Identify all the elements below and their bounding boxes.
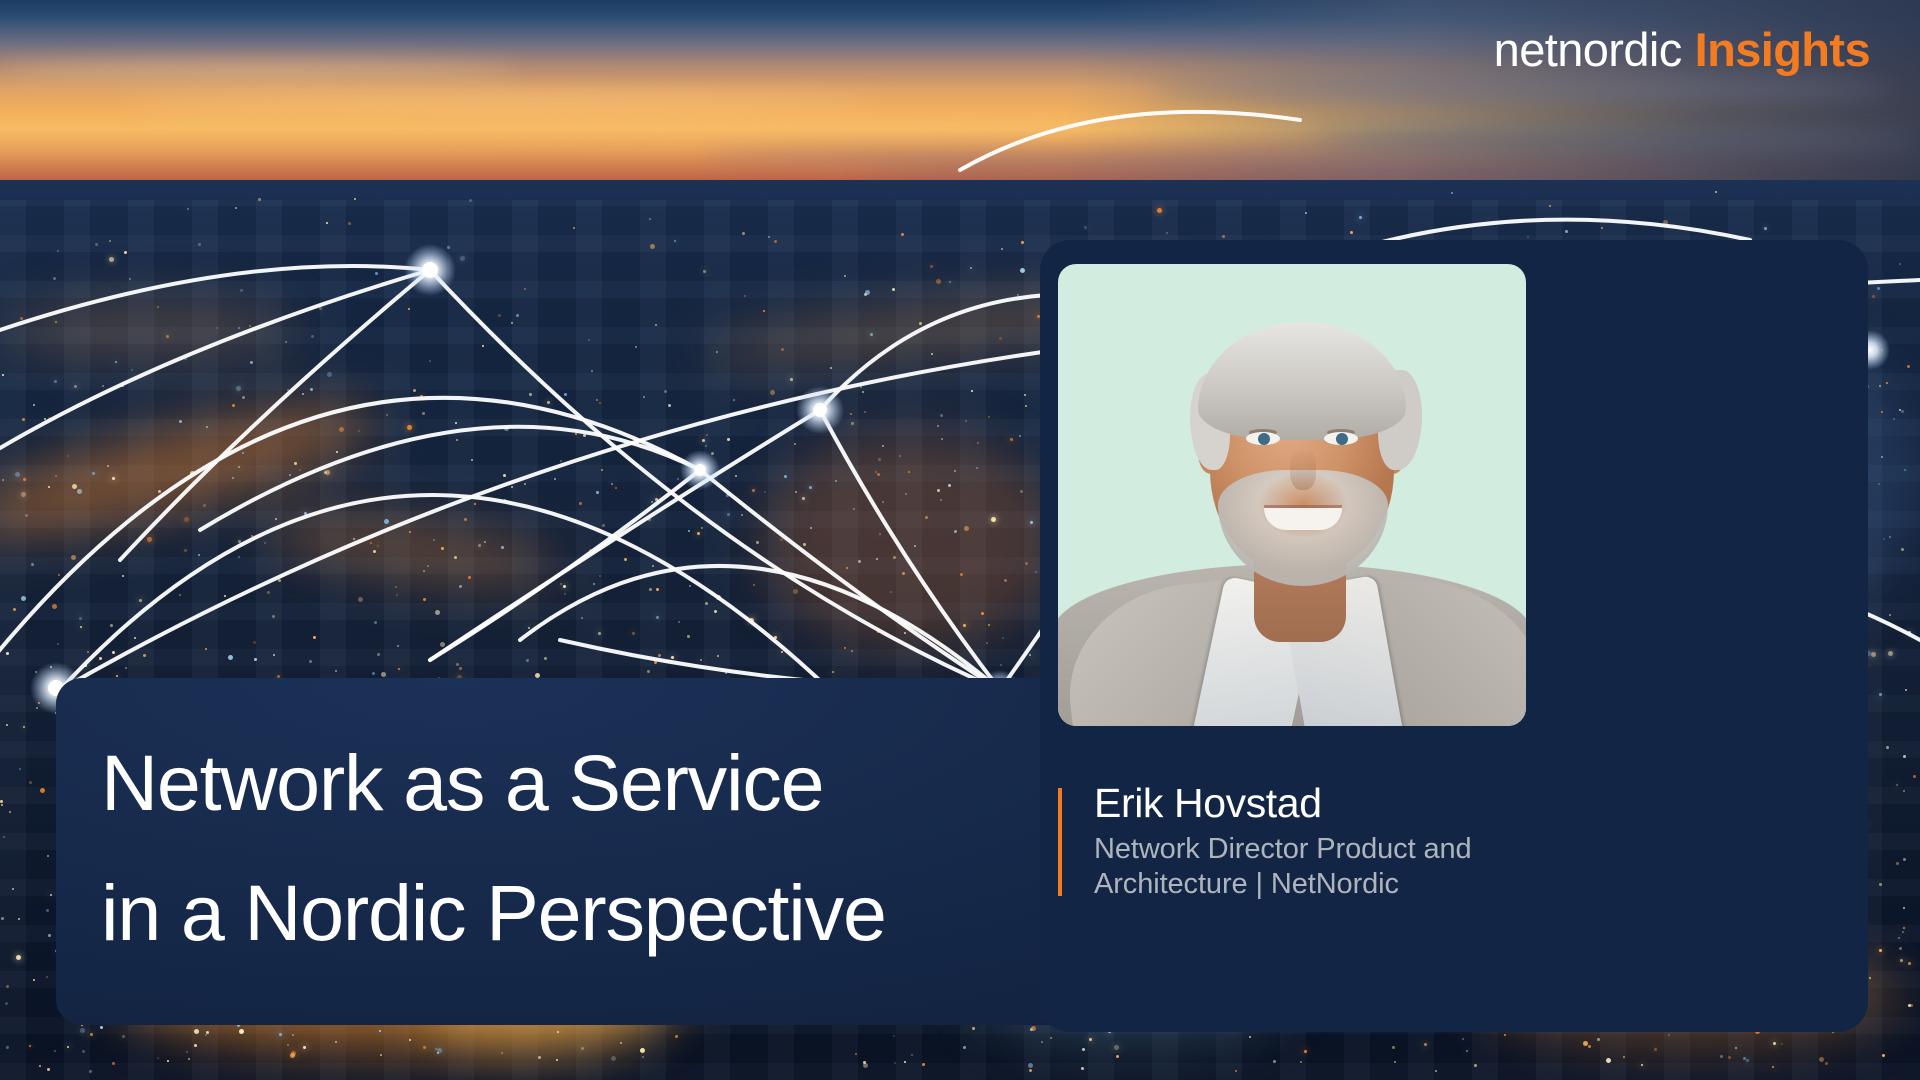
photo-pupil-left [1258,433,1270,445]
title-line-2: in a Nordic Perspective [101,848,1101,978]
speaker-role: Network Director Product and Architectur… [1094,832,1472,903]
netnordic-insights-logo[interactable]: netnordicInsights [1494,26,1870,73]
speaker-role-line-1: Network Director Product and [1094,832,1472,867]
photo-mouth [1264,508,1342,530]
title-line-1: Network as a Service [101,718,1101,848]
accent-divider-bar [1058,788,1062,896]
photo-nose [1290,448,1316,490]
photo-pupil-right [1336,433,1348,445]
logo-wordmark-primary: netnordic [1494,23,1682,76]
speaker-meta: Erik Hovstad Network Director Product an… [1058,780,1858,920]
page-title: Network as a Service in a Nordic Perspec… [101,718,1101,979]
photo-hair-top [1198,322,1406,440]
speaker-card: Erik Hovstad Network Director Product an… [1040,240,1868,1032]
speaker-role-line-2: Architecture | NetNordic [1094,867,1472,902]
speaker-name: Erik Hovstad [1094,780,1322,828]
speaker-photo [1058,264,1526,726]
slide-canvas: netnordicInsights Network as a Service i… [0,0,1920,1080]
logo-wordmark-secondary: Insights [1695,23,1870,76]
